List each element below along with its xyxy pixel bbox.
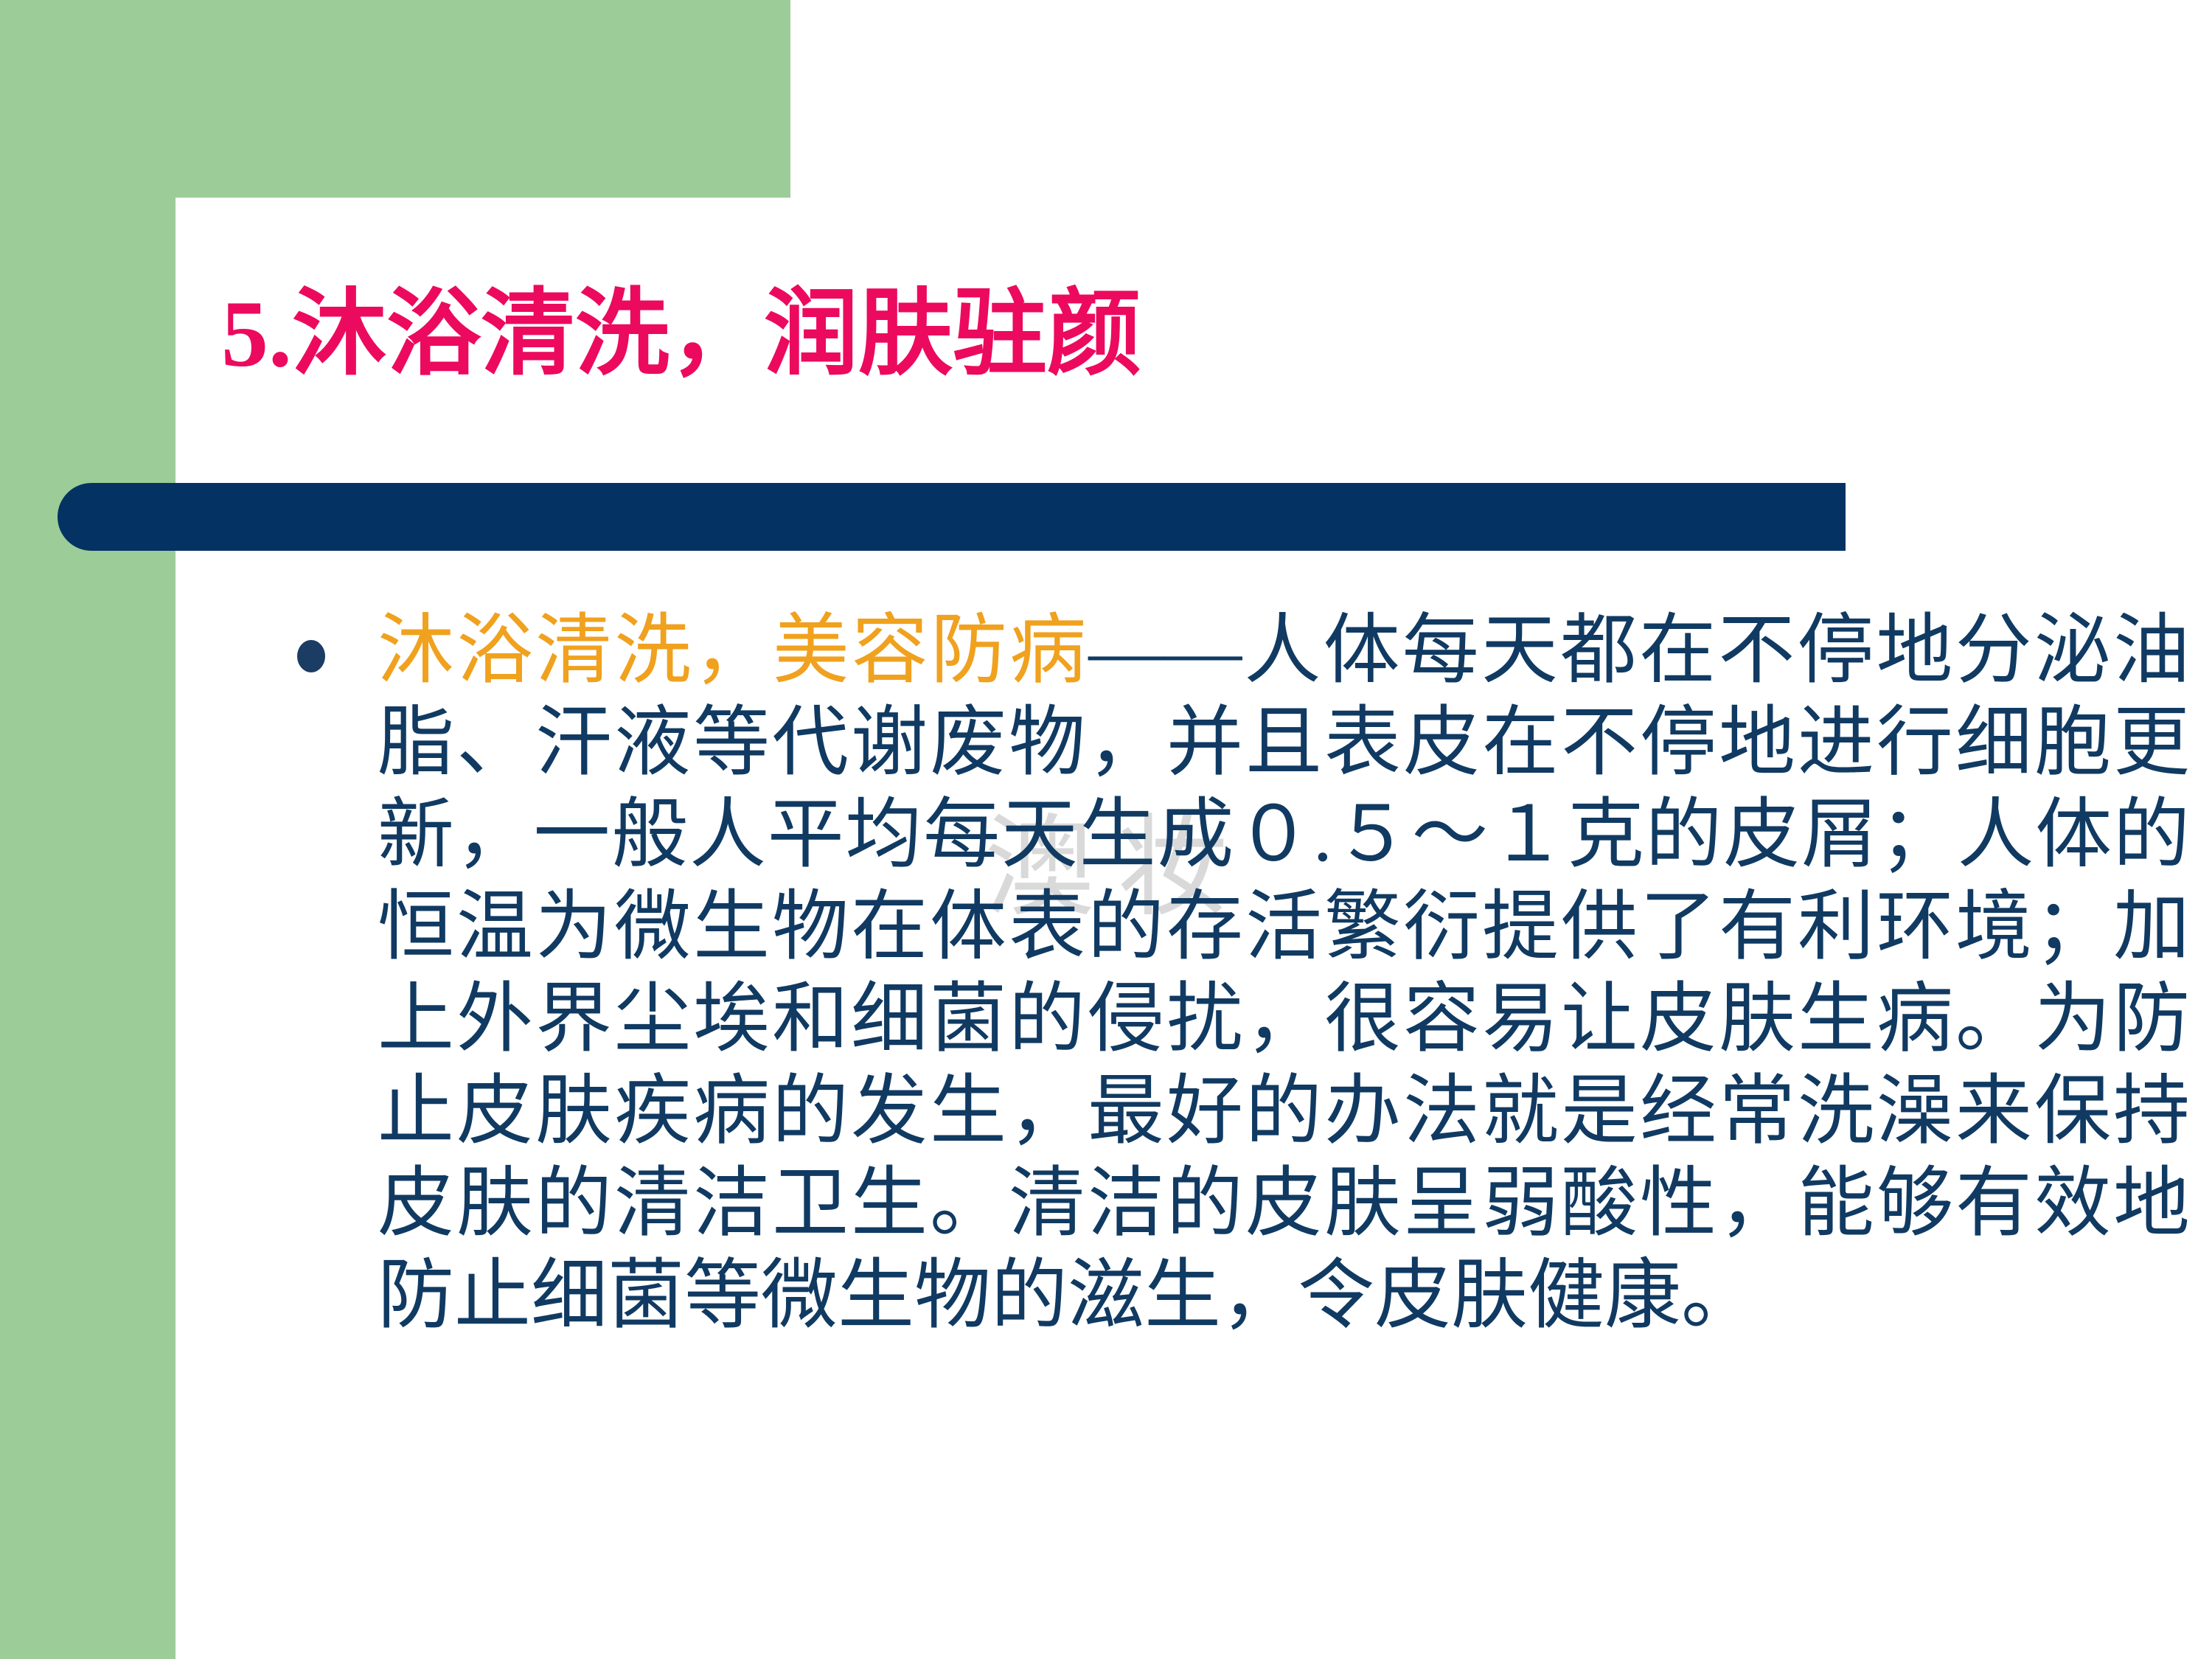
body-lead-phrase: 沐浴清洗，美容防病 — [378, 608, 1088, 693]
slide-canvas: 5.沐浴清洗，润肤驻颜 澳妆 沐浴清洗，美容防病——人体每天都在不停地分泌油脂、… — [0, 0, 2212, 1659]
body-paragraph: 沐浴清洗，美容防病——人体每天都在不停地分泌油脂、汗液等代谢废物，并且表皮在不停… — [288, 605, 2190, 1342]
body-bullet-block: 沐浴清洗，美容防病——人体每天都在不停地分泌油脂、汗液等代谢废物，并且表皮在不停… — [288, 605, 2190, 1342]
title-underline-bar — [58, 483, 1846, 551]
bullet-dot-icon — [297, 640, 325, 672]
green-decoration-left — [0, 0, 175, 1659]
body-rest-text: ——人体每天都在不停地分泌油脂、汗液等代谢废物，并且表皮在不停地进行细胞更新，一… — [378, 608, 2190, 1338]
page-title: 5.沐浴清洗，润肤驻颜 — [221, 280, 1917, 389]
